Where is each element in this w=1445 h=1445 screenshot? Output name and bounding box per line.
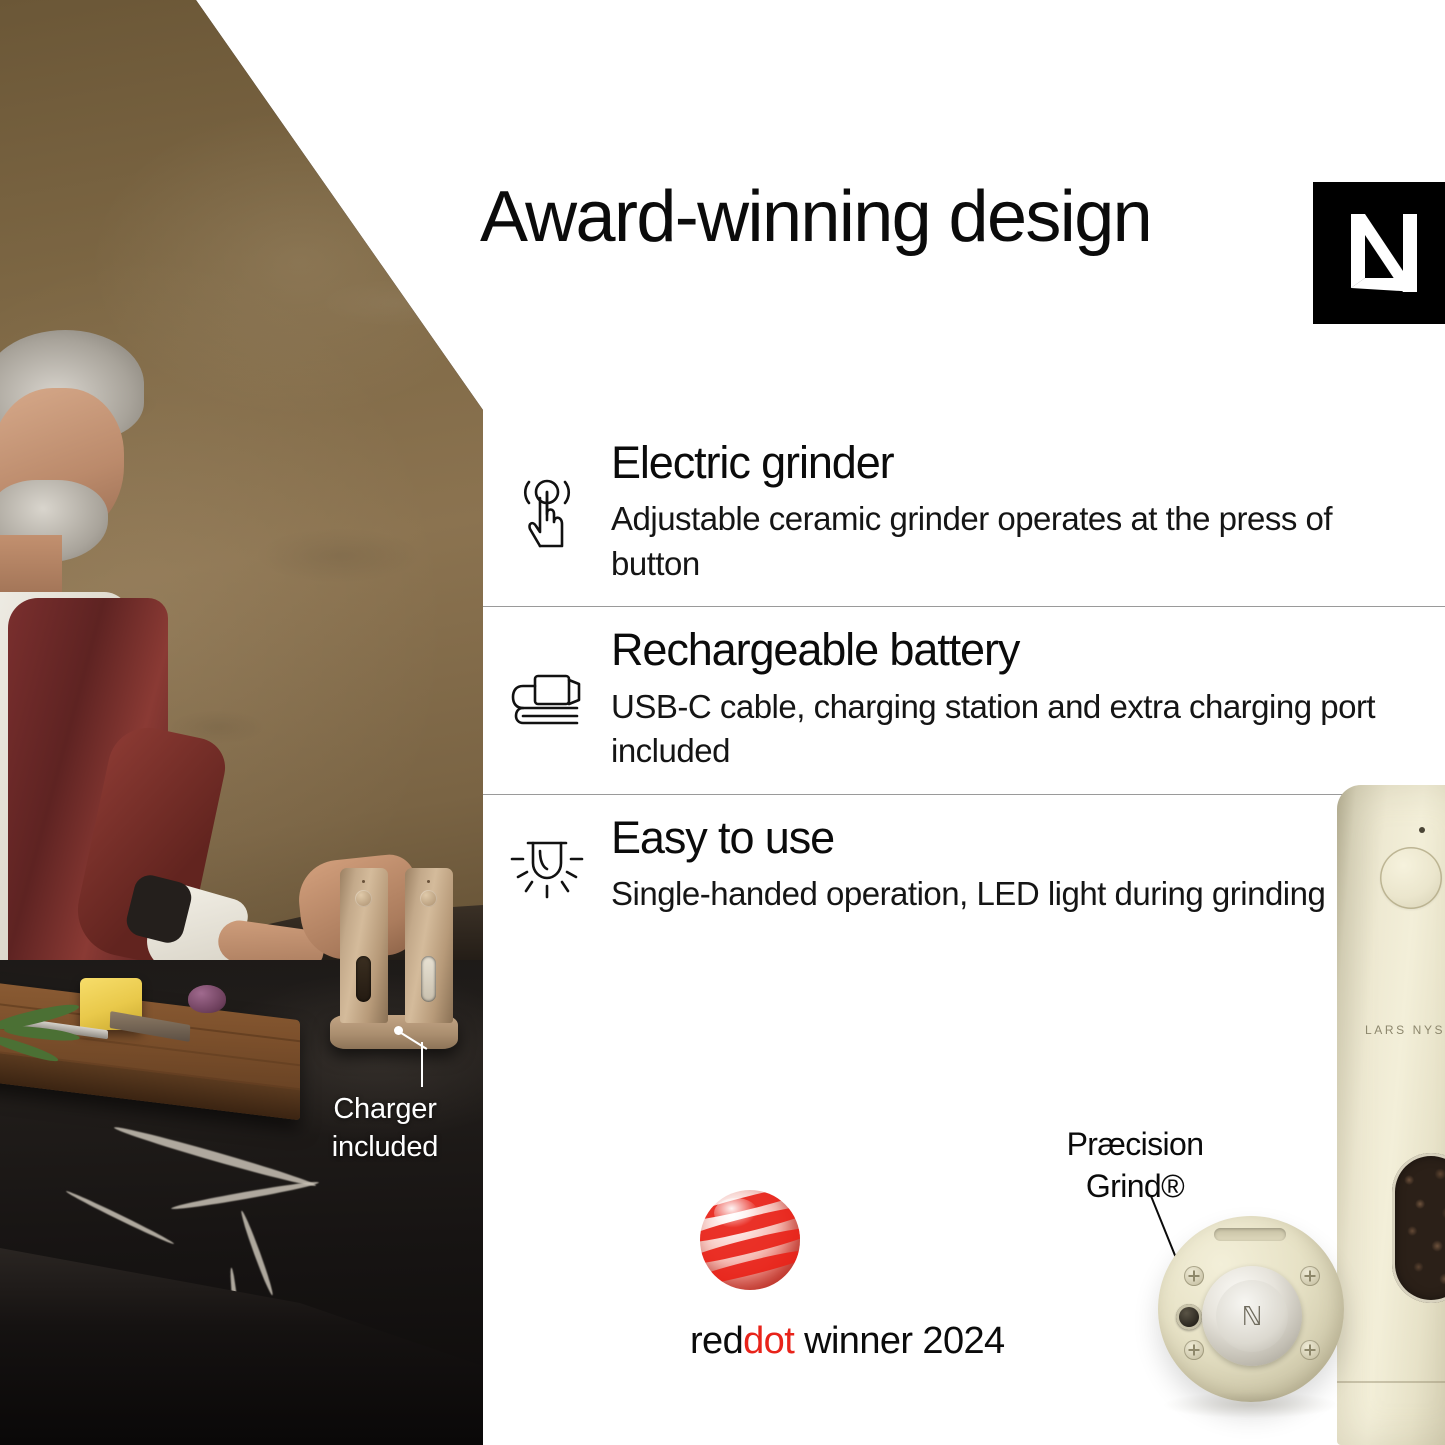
feature-text: Rechargeable battery USB-C cable, chargi… — [611, 625, 1445, 773]
feature-title: Rechargeable battery — [611, 625, 1385, 675]
pepper-grinder-product — [340, 868, 388, 1023]
grinder-seam — [1337, 1381, 1445, 1383]
salt-grinder-product — [405, 868, 453, 1023]
charger-callout-label: Charger included — [300, 1090, 470, 1167]
award-label: reddot winner 2024 — [690, 1320, 1030, 1363]
feature-item: Electric grinder Adjustable ceramic grin… — [483, 420, 1445, 606]
grinder-led-indicator — [1419, 827, 1425, 833]
ln-mark-icon: ℕ — [1242, 1303, 1263, 1329]
usb-plug-icon — [483, 670, 611, 730]
feature-title: Electric grinder — [611, 438, 1385, 488]
grind-adjustment-ring: ℕ — [1202, 1266, 1302, 1366]
award-label-dot: dot — [743, 1320, 794, 1362]
precision-grind-callout: Præcision Grind® — [1040, 1124, 1230, 1207]
charger-callout-leader — [421, 1042, 423, 1087]
lifestyle-photo: Charger included — [0, 0, 483, 1445]
feature-description: Single-handed operation, LED light durin… — [611, 872, 1325, 917]
product-shadow — [1164, 1392, 1338, 1418]
feature-title: Easy to use — [611, 813, 1325, 863]
led-lamp-icon — [483, 829, 611, 901]
feature-item: Rechargeable battery USB-C cable, chargi… — [483, 606, 1445, 793]
feature-description: Adjustable ceramic grinder operates at t… — [611, 497, 1385, 586]
base-screw-icon — [1184, 1266, 1204, 1286]
grinder-base-unit: ℕ — [1158, 1216, 1344, 1445]
feature-text: Easy to use Single-handed operation, LED… — [611, 813, 1385, 917]
feature-item: Easy to use Single-handed operation, LED… — [483, 794, 1445, 937]
award-badge: reddot winner 2024 — [690, 1190, 1030, 1363]
grinder-power-button — [1380, 847, 1442, 909]
precision-grind-line1: Præcision — [1040, 1124, 1230, 1166]
feature-description: USB-C cable, charging station and extra … — [611, 685, 1385, 774]
base-screw-icon — [1300, 1266, 1320, 1286]
base-screw-icon — [1300, 1340, 1320, 1360]
product-wordmark: LARS NYS — [1365, 1023, 1445, 1037]
tap-gesture-icon — [483, 476, 611, 548]
base-screw-icon — [1184, 1340, 1204, 1360]
grinder-base-vent — [1214, 1228, 1286, 1241]
hero-grinder-product: LARS NYS — [1337, 785, 1445, 1445]
person-figure — [0, 330, 290, 1030]
grind-adjustment-dial: ℕ — [1216, 1280, 1288, 1352]
feature-list: Electric grinder Adjustable ceramic grin… — [483, 420, 1445, 937]
usb-c-charging-port — [1176, 1304, 1202, 1330]
reddot-sphere-icon — [700, 1190, 800, 1290]
award-label-red: red — [690, 1320, 743, 1362]
peppercorn-window — [1392, 1153, 1445, 1303]
grinder-base-outer: ℕ — [1158, 1216, 1344, 1402]
ln-monogram-icon — [1313, 182, 1445, 324]
precision-grind-line2: Grind® — [1040, 1166, 1230, 1208]
feature-text: Electric grinder Adjustable ceramic grin… — [611, 438, 1445, 586]
page-title: Award-winning design — [480, 176, 1180, 258]
award-label-rest: winner 2024 — [794, 1320, 1004, 1362]
red-onion — [188, 985, 226, 1013]
